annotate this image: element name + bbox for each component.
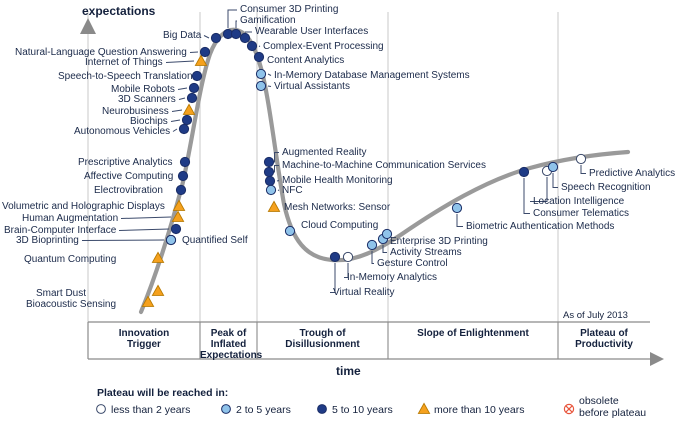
label-enterprise-3d-printing: Enterprise 3D Printing [390, 236, 488, 247]
legend-marker-circle-lightblue [222, 405, 231, 414]
label-machine-to-machine-communication-services: Machine-to-Machine Communication Service… [282, 160, 486, 171]
label-nfc: NFC [282, 185, 303, 196]
leader-line [581, 165, 586, 174]
marker-speech-to-speech-translation[interactable] [192, 71, 201, 80]
legend-marker-circle-darkblue [318, 405, 327, 414]
phase-band-line: Disillusionment [257, 339, 388, 350]
label-autonomous-vehicles: Autonomous Vehicles [74, 126, 170, 137]
marker-quantified-self[interactable] [166, 235, 175, 244]
leader-line [119, 229, 169, 231]
hype-cycle-chart: expectations time As of July 2013 Bioaco… [0, 0, 680, 425]
label-internet-of-things: Internet of Things [85, 57, 163, 68]
label-quantum-computing: Quantum Computing [24, 254, 116, 265]
leader-line [82, 240, 164, 241]
label-quantified-self: Quantified Self [182, 235, 248, 246]
leader-line [171, 120, 180, 122]
label-virtual-assistants: Virtual Assistants [274, 81, 350, 92]
leader-line [524, 178, 530, 214]
marker-gamification[interactable] [231, 29, 240, 38]
marker-biochips[interactable] [182, 115, 191, 124]
label-smart-dust: Smart Dust [36, 288, 86, 299]
marker-augmented-reality[interactable] [264, 157, 273, 166]
marker-virtual-reality[interactable] [330, 252, 339, 261]
label-prescriptive-analytics: Prescriptive Analytics [78, 157, 172, 168]
label-speech-recognition: Speech Recognition [561, 182, 651, 193]
phase-band-line: Trigger [88, 339, 200, 350]
phase-band-0: InnovationTrigger [88, 328, 200, 350]
leader-line [121, 217, 171, 219]
phase-band-line: Innovation [88, 328, 200, 339]
marker-consumer-telematics[interactable] [519, 167, 528, 176]
marker-big-data[interactable] [211, 33, 220, 42]
marker-autonomous-vehicles[interactable] [179, 124, 188, 133]
phase-band-line: Expectations [200, 350, 257, 361]
leader-line [172, 110, 182, 112]
legend-item-1[interactable]: 2 to 5 years [236, 404, 291, 416]
legend-item-label: more than 10 years [434, 404, 524, 416]
leader-line [190, 52, 198, 53]
label-brain-computer-interface: Brain-Computer Interface [4, 225, 116, 236]
marker-smart-dust[interactable] [152, 285, 163, 295]
legend-item-label: 5 to 10 years [332, 404, 393, 416]
leader-line [179, 98, 185, 100]
legend-item-label-2: before plateau [579, 408, 646, 420]
marker-biometric-authentication-methods[interactable] [452, 203, 461, 212]
label-gamification: Gamification [240, 15, 296, 26]
marker-mobile-health-monitoring[interactable] [265, 176, 274, 185]
leader-line [178, 88, 187, 90]
phase-band-3: Slope of Enlightenment [388, 328, 558, 339]
leader-line [204, 36, 209, 39]
marker-mesh-networks-sensor[interactable] [268, 201, 279, 211]
marker-in-memory-analytics[interactable] [343, 252, 352, 261]
as-of-date: As of July 2013 [563, 310, 628, 321]
label-virtual-reality: Virtual Reality [333, 287, 395, 298]
label-bioacoustic-sensing: Bioacoustic Sensing [26, 299, 116, 310]
leader-line [277, 181, 279, 182]
label-gesture-control: Gesture Control [377, 258, 448, 269]
label-electrovibration: Electrovibration [94, 185, 163, 196]
label-volumetric-and-holographic-displays: Volumetric and Holographic Displays [2, 201, 165, 212]
legend-title: Plateau will be reached in: [97, 387, 228, 399]
label-location-intelligence: Location Intelligence [533, 196, 624, 207]
leader-line [278, 190, 279, 191]
leader-line [553, 173, 558, 188]
label-biometric-authentication-methods: Biometric Authentication Methods [466, 221, 614, 232]
marker-brain-computer-interface[interactable] [171, 224, 180, 233]
marker-3d-scanners[interactable] [187, 93, 196, 102]
legend-item-3[interactable]: more than 10 years [434, 404, 524, 416]
label-predictive-analytics: Predictive Analytics [589, 168, 675, 179]
marker-affective-computing[interactable] [178, 171, 187, 180]
label-3d-scanners: 3D Scanners [118, 94, 176, 105]
legend-item-4[interactable]: obsoletebefore plateau [579, 396, 646, 419]
label-in-memory-database-management-systems: In-Memory Database Management Systems [274, 70, 470, 81]
legend-item-label: less than 2 years [111, 404, 190, 416]
legend-item-2[interactable]: 5 to 10 years [332, 404, 393, 416]
marker-neurobusiness[interactable] [183, 104, 194, 114]
leader-line [173, 129, 177, 132]
leader-line [457, 214, 463, 227]
label-affective-computing: Affective Computing [84, 171, 173, 182]
phase-band-line: Trough of [257, 328, 388, 339]
label-consumer-3d-printing: Consumer 3D Printing [240, 4, 338, 15]
phase-band-line: Productivity [558, 339, 650, 350]
label-big-data: Big Data [163, 30, 201, 41]
legend-item-0[interactable]: less than 2 years [111, 404, 190, 416]
marker-complex-event-processing[interactable] [247, 41, 256, 50]
label-human-augmentation: Human Augmentation [22, 213, 118, 224]
marker-in-memory-database-management-systems[interactable] [256, 69, 265, 78]
leader-line [268, 74, 271, 76]
label-in-memory-analytics: In-Memory Analytics [347, 272, 437, 283]
phase-band-line: Slope of Enlightenment [388, 328, 558, 339]
marker-wearable-user-interfaces[interactable] [240, 33, 249, 42]
label-natural-language-question-answering: Natural-Language Question Answering [15, 47, 187, 58]
marker-content-analytics[interactable] [254, 52, 263, 61]
marker-prescriptive-analytics[interactable] [180, 157, 189, 166]
label-augmented-reality: Augmented Reality [282, 147, 367, 158]
label-speech-to-speech-translation: Speech-to-Speech Translation [58, 71, 193, 82]
leader-line [166, 61, 194, 63]
legend-marker-circle-white [97, 405, 106, 414]
leader-line [268, 86, 271, 87]
legend-item-label: obsolete [579, 396, 646, 408]
phase-band-1: Peak ofInflatedExpectations [200, 328, 257, 361]
label-biochips: Biochips [130, 116, 168, 127]
leader-line [259, 46, 260, 47]
phase-band-line: Plateau of [558, 328, 650, 339]
label-wearable-user-interfaces: Wearable User Interfaces [255, 26, 368, 37]
leader-line [236, 21, 237, 28]
phase-band-line: Peak of [200, 328, 257, 339]
y-axis-arrow [80, 18, 96, 34]
marker-virtual-assistants[interactable] [256, 81, 265, 90]
phase-band-2: Trough ofDisillusionment [257, 328, 388, 350]
marker-predictive-analytics[interactable] [576, 154, 585, 163]
x-axis-title: time [336, 364, 361, 378]
marker-nfc[interactable] [266, 185, 275, 194]
y-axis-title: expectations [82, 4, 155, 18]
label-mobile-robots: Mobile Robots [111, 84, 175, 95]
marker-machine-to-machine-communication-services[interactable] [264, 167, 273, 176]
marker-cloud-computing[interactable] [285, 226, 294, 235]
legend-marker-obsolete-icon [564, 404, 573, 413]
label-neurobusiness: Neurobusiness [102, 106, 169, 117]
label-mesh-networks-sensor: Mesh Networks: Sensor [284, 202, 390, 213]
marker-electrovibration[interactable] [176, 185, 185, 194]
label-activity-streams: Activity Streams [390, 247, 462, 258]
phase-band-line: Inflated [200, 339, 257, 350]
marker-mobile-robots[interactable] [189, 83, 198, 92]
marker-speech-recognition[interactable] [548, 162, 557, 171]
label-cloud-computing: Cloud Computing [301, 220, 378, 231]
label-complex-event-processing: Complex-Event Processing [263, 41, 384, 52]
legend-item-label: 2 to 5 years [236, 404, 291, 416]
marker-natural-language-question-answering[interactable] [200, 47, 209, 56]
phase-band-4: Plateau ofProductivity [558, 328, 650, 350]
marker-gesture-control[interactable] [367, 240, 376, 249]
label-3d-bioprinting: 3D Bioprinting [16, 235, 79, 246]
legend-marker-triangle-orange [418, 403, 429, 413]
label-consumer-telematics: Consumer Telematics [533, 208, 629, 219]
label-content-analytics: Content Analytics [267, 55, 344, 66]
